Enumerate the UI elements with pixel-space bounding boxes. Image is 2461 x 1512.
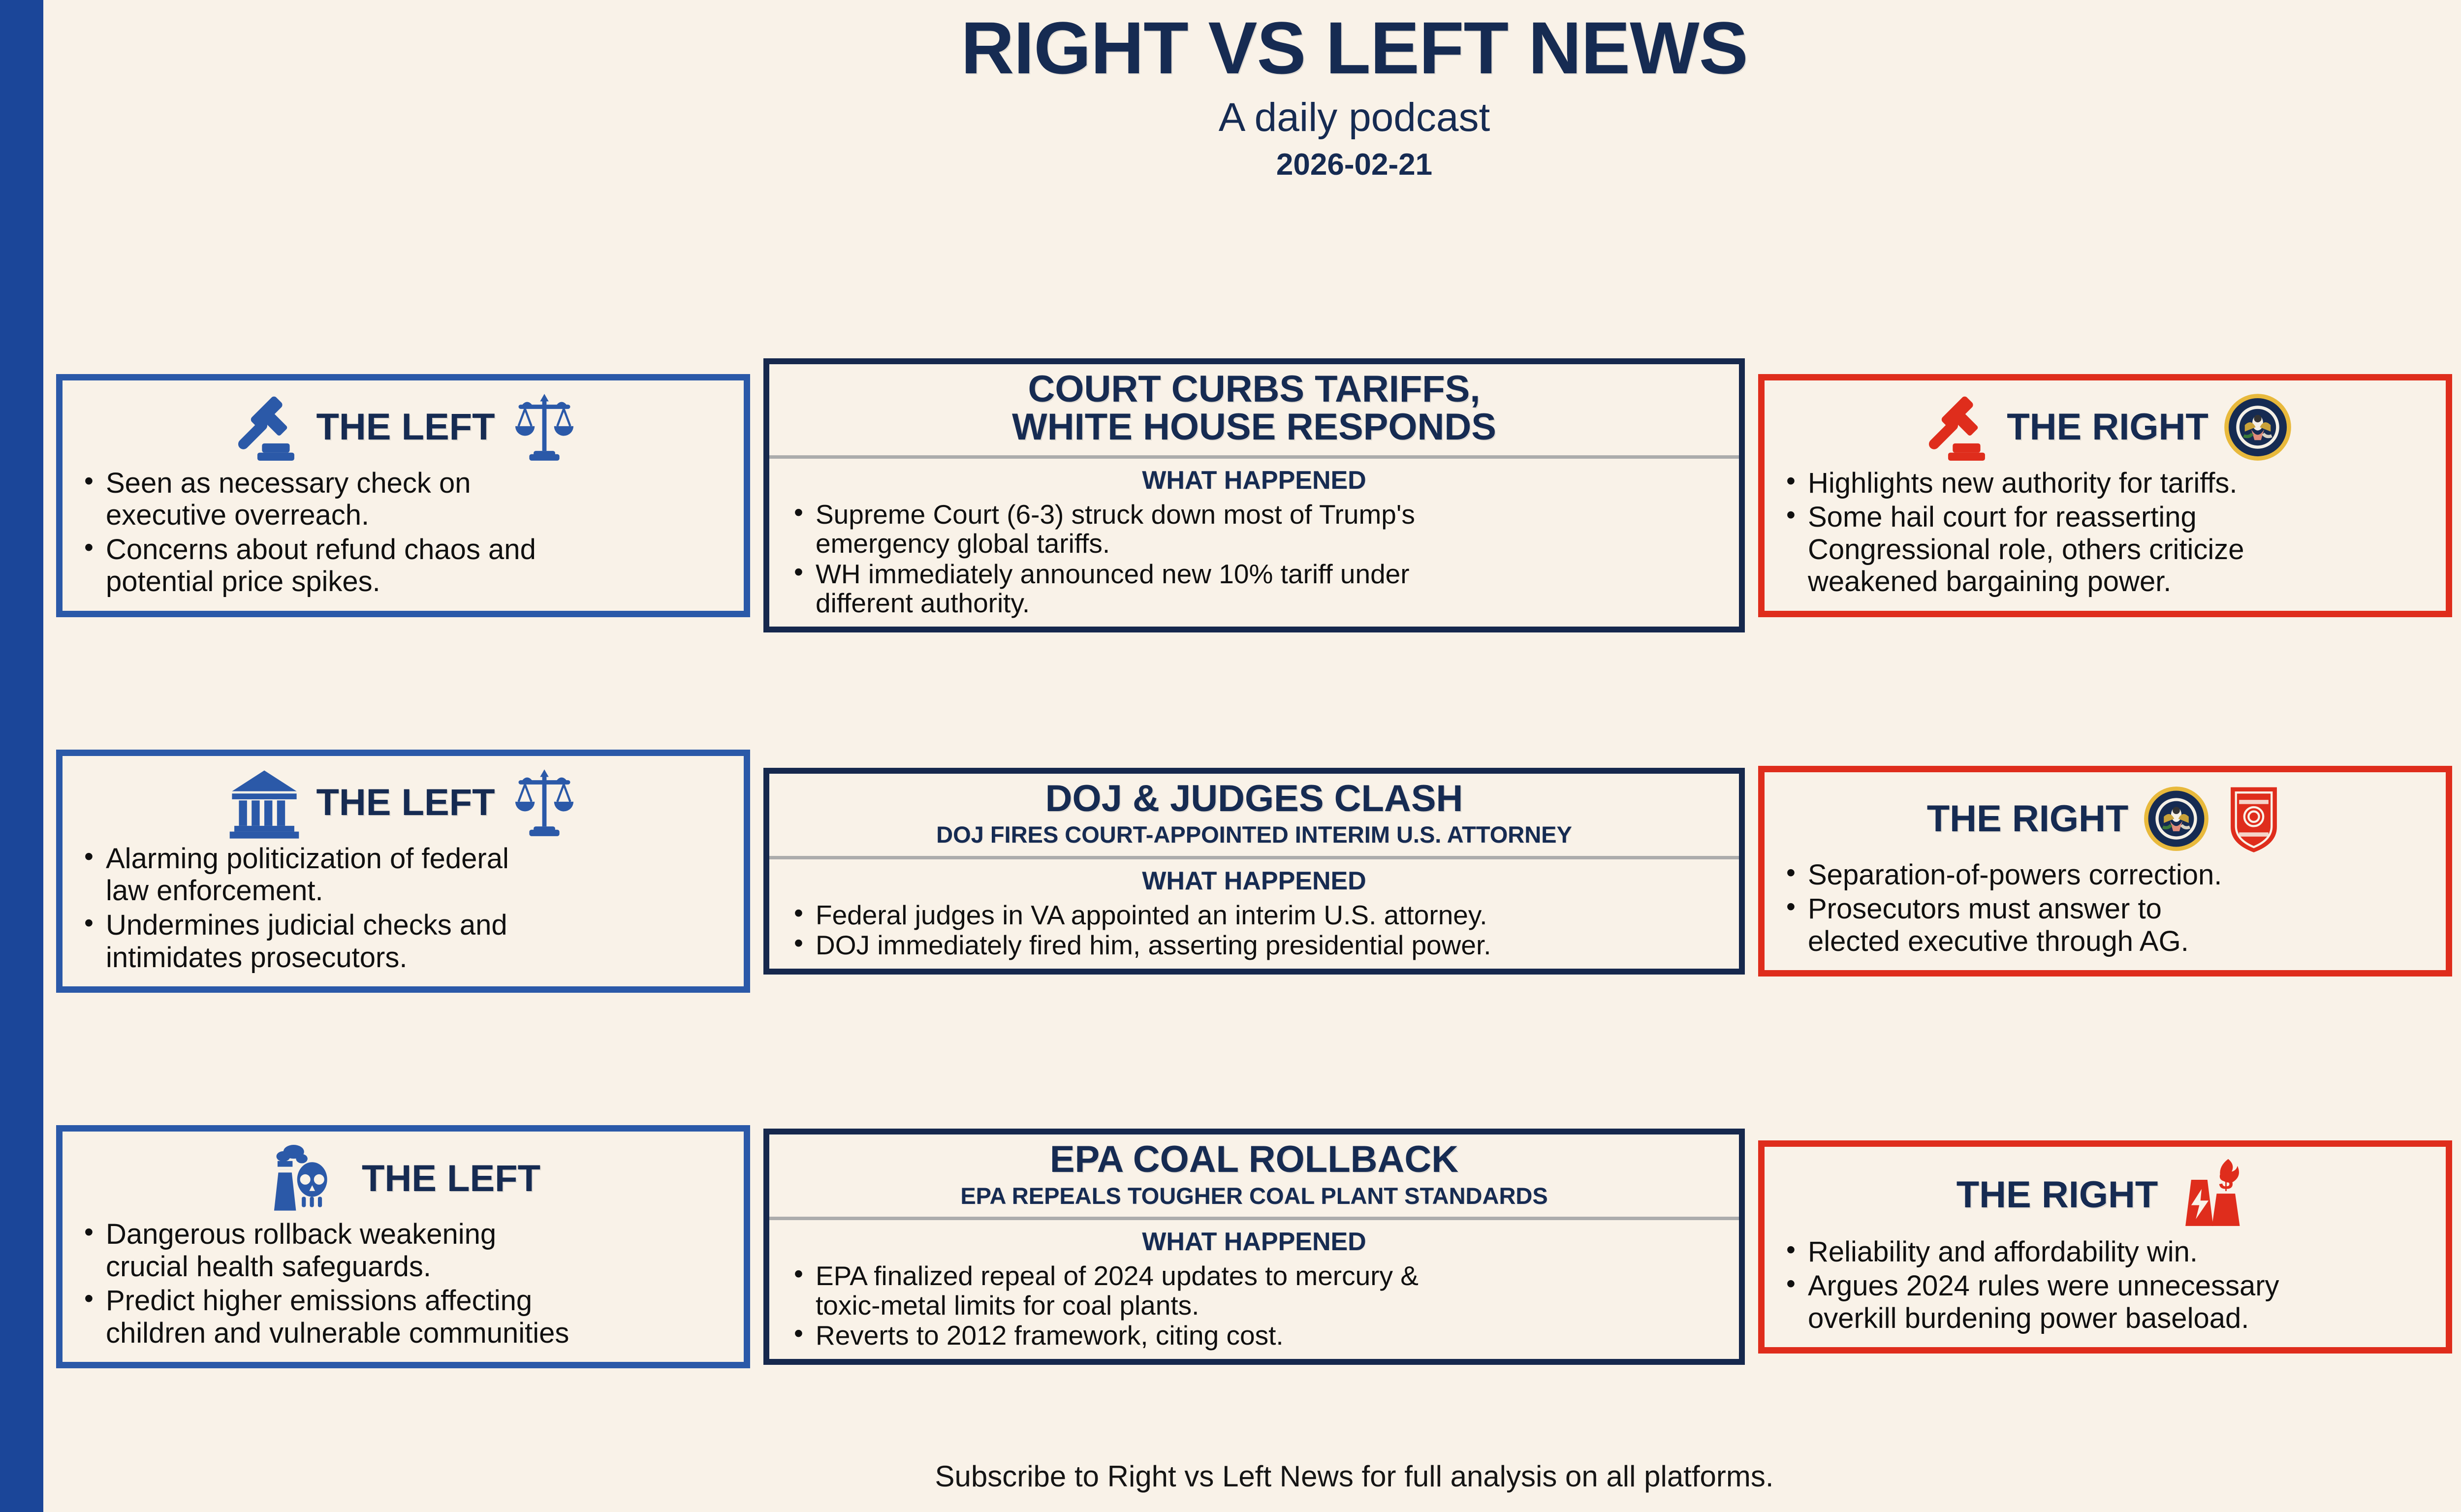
what-happened-label-2: WHAT HAPPENED bbox=[781, 866, 1727, 896]
right-cell-3: THE RIGHT $ bbox=[1745, 1059, 2461, 1435]
story-bullets-1: Supreme Court (6-3) struck down most of … bbox=[781, 500, 1727, 618]
right-bullets-1: Highlights new authority for tariffs. So… bbox=[1777, 467, 2433, 598]
left-card-label-2: THE LEFT bbox=[316, 781, 495, 824]
left-card-header-3: THE LEFT bbox=[75, 1141, 731, 1215]
divider bbox=[769, 1217, 1739, 1220]
gavel-icon bbox=[227, 390, 301, 464]
scales-icon bbox=[510, 390, 579, 464]
story-bullets-3: EPA finalized repeal of 2024 updates to … bbox=[781, 1261, 1727, 1350]
left-card-header-1: THE LEFT bbox=[75, 390, 731, 464]
presidential-seal-icon bbox=[2223, 393, 2292, 462]
story-bullets-2: Federal judges in VA appointed an interi… bbox=[781, 901, 1727, 960]
svg-text:$: $ bbox=[2219, 1165, 2233, 1194]
right-card-label-2: THE RIGHT bbox=[1927, 797, 2129, 840]
list-item: Argues 2024 rules were unnecessary overk… bbox=[1808, 1270, 2433, 1334]
list-item: Prosecutors must answer to elected execu… bbox=[1808, 893, 2433, 957]
right-card-label-3: THE RIGHT bbox=[1956, 1173, 2158, 1216]
story-body-1: WHAT HAPPENED Supreme Court (6-3) struck… bbox=[769, 459, 1739, 627]
list-item: EPA finalized repeal of 2024 updates to … bbox=[816, 1261, 1727, 1320]
list-item: WH immediately announced new 10% tariff … bbox=[816, 560, 1727, 618]
story-card-epa: EPA COAL ROLLBACK EPA REPEALS TOUGHER CO… bbox=[763, 1129, 1745, 1365]
list-item: Undermines judicial checks and intimidat… bbox=[106, 909, 731, 974]
list-item: Seen as necessary check on executive ove… bbox=[106, 467, 731, 532]
right-card-epa: THE RIGHT $ bbox=[1758, 1140, 2452, 1354]
list-item: Separation-of-powers correction. bbox=[1808, 859, 2433, 891]
left-cell-1: THE LEFT bbox=[43, 308, 763, 683]
right-card-doj: THE RIGHT bbox=[1758, 766, 2452, 977]
list-item: Predict higher emissions affecting child… bbox=[106, 1285, 731, 1349]
page-subtitle: A daily podcast bbox=[43, 97, 2461, 138]
left-card-epa: THE LEFT Dangerous rollback weakening cr… bbox=[56, 1125, 750, 1368]
story-card-doj: DOJ & JUDGES CLASH DOJ FIRES COURT-APPOI… bbox=[763, 768, 1745, 975]
list-item: Concerns about refund chaos and potentia… bbox=[106, 534, 731, 598]
story-headline-3: EPA COAL ROLLBACK bbox=[780, 1140, 1728, 1179]
list-item: Federal judges in VA appointed an interi… bbox=[816, 901, 1727, 930]
right-cell-2: THE RIGHT bbox=[1745, 683, 2461, 1059]
right-card-header-3: THE RIGHT $ bbox=[1777, 1157, 2433, 1233]
center-cell-3: EPA COAL ROLLBACK EPA REPEALS TOUGHER CO… bbox=[763, 1059, 1745, 1435]
story-head-2: DOJ & JUDGES CLASH DOJ FIRES COURT-APPOI… bbox=[769, 774, 1739, 856]
right-card-label-1: THE RIGHT bbox=[2007, 406, 2209, 448]
story-head-3: EPA COAL ROLLBACK EPA REPEALS TOUGHER CO… bbox=[769, 1134, 1739, 1217]
list-item: Dangerous rollback weakening crucial hea… bbox=[106, 1218, 731, 1283]
page-date: 2026-02-21 bbox=[43, 150, 2461, 180]
left-bullets-1: Seen as necessary check on executive ove… bbox=[75, 467, 731, 598]
right-card-header-1: THE RIGHT bbox=[1777, 390, 2433, 464]
page-title: RIGHT VS LEFT NEWS bbox=[43, 11, 2461, 85]
gavel-icon bbox=[1918, 390, 1992, 464]
infographic-canvas: RIGHT VS LEFT NEWS A daily podcast 2026-… bbox=[43, 0, 2461, 1512]
center-cell-2: DOJ & JUDGES CLASH DOJ FIRES COURT-APPOI… bbox=[763, 683, 1745, 1059]
right-card-tariffs: THE RIGHT bbox=[1758, 374, 2452, 617]
presidential-seal-icon bbox=[2143, 786, 2209, 852]
story-body-3: WHAT HAPPENED EPA finalized repeal of 20… bbox=[769, 1220, 1739, 1359]
footer-cta: Subscribe to Right vs Left News for full… bbox=[43, 1459, 2461, 1493]
right-bullets-2: Separation-of-powers correction. Prosecu… bbox=[1777, 859, 2433, 958]
story-grid: THE LEFT bbox=[43, 308, 2461, 1435]
smokestack-skull-icon bbox=[266, 1141, 347, 1215]
story-body-2: WHAT HAPPENED Federal judges in VA appoi… bbox=[769, 859, 1739, 969]
list-item: Supreme Court (6-3) struck down most of … bbox=[816, 500, 1727, 559]
left-card-doj: THE LEFT bbox=[56, 750, 750, 993]
left-card-label-3: THE LEFT bbox=[362, 1157, 540, 1200]
left-accent-bar bbox=[0, 0, 43, 1512]
story-headline-1: COURT CURBS TARIFFS, WHITE HOUSE RESPOND… bbox=[780, 370, 1728, 446]
left-cell-2: THE LEFT bbox=[43, 683, 763, 1059]
list-item: DOJ immediately fired him, asserting pre… bbox=[816, 931, 1727, 960]
story-head-1: COURT CURBS TARIFFS, WHITE HOUSE RESPOND… bbox=[769, 364, 1739, 455]
left-card-header-2: THE LEFT bbox=[75, 766, 731, 840]
what-happened-label-3: WHAT HAPPENED bbox=[781, 1227, 1727, 1257]
center-cell-1: COURT CURBS TARIFFS, WHITE HOUSE RESPOND… bbox=[763, 308, 1745, 683]
left-card-tariffs: THE LEFT bbox=[56, 374, 750, 617]
right-bullets-3: Reliability and affordability win. Argue… bbox=[1777, 1236, 2433, 1335]
police-badge-icon bbox=[2224, 783, 2283, 854]
scales-icon bbox=[510, 766, 579, 840]
list-item: Reverts to 2012 framework, citing cost. bbox=[816, 1321, 1727, 1350]
divider bbox=[769, 455, 1739, 459]
story-card-tariffs: COURT CURBS TARIFFS, WHITE HOUSE RESPOND… bbox=[763, 358, 1745, 633]
header: RIGHT VS LEFT NEWS A daily podcast 2026-… bbox=[43, 0, 2461, 180]
power-plant-dollar-icon: $ bbox=[2173, 1157, 2254, 1233]
right-card-header-2: THE RIGHT bbox=[1777, 782, 2433, 856]
divider bbox=[769, 856, 1739, 859]
list-item: Some hail court for reasserting Congress… bbox=[1808, 501, 2433, 598]
left-cell-3: THE LEFT Dangerous rollback weakening cr… bbox=[43, 1059, 763, 1435]
left-bullets-2: Alarming politicization of federal law e… bbox=[75, 843, 731, 974]
what-happened-label-1: WHAT HAPPENED bbox=[781, 466, 1727, 495]
story-headline-2: DOJ & JUDGES CLASH bbox=[780, 780, 1728, 818]
list-item: Reliability and affordability win. bbox=[1808, 1236, 2433, 1268]
left-bullets-3: Dangerous rollback weakening crucial hea… bbox=[75, 1218, 731, 1349]
story-subheadline-3: EPA REPEALS TOUGHER COAL PLANT STANDARDS bbox=[780, 1184, 1728, 1208]
story-subheadline-2: DOJ FIRES COURT-APPOINTED INTERIM U.S. A… bbox=[780, 822, 1728, 847]
courthouse-icon bbox=[227, 766, 301, 840]
left-card-label-1: THE LEFT bbox=[316, 406, 495, 448]
right-cell-1: THE RIGHT bbox=[1745, 308, 2461, 683]
list-item: Alarming politicization of federal law e… bbox=[106, 843, 731, 907]
list-item: Highlights new authority for tariffs. bbox=[1808, 467, 2433, 500]
